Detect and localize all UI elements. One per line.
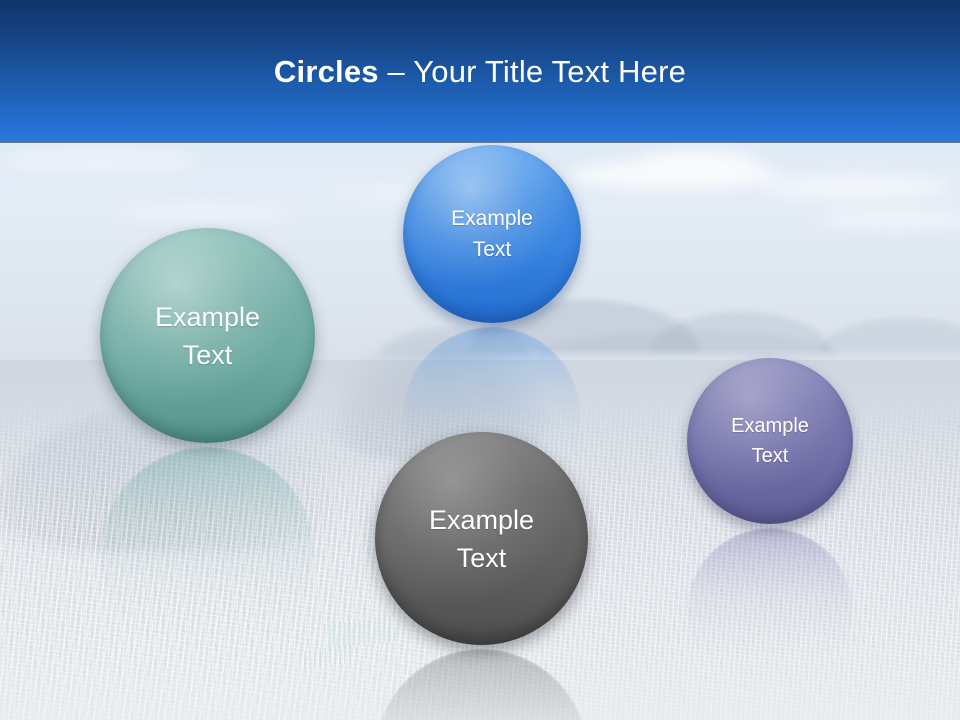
circle-shape-teal[interactable]: ExampleText [100,228,315,443]
page-title-strong: Circles [274,54,379,89]
slide-canvas: ExampleText ExampleText ExampleText Exam… [0,0,960,720]
circle-label-teal: ExampleText [145,298,270,374]
page-title: Circles – Your Title Text Here [0,52,960,92]
circle-shape-blue[interactable]: ExampleText [403,145,581,323]
circle-label-blue: ExampleText [441,203,543,265]
page-title-rest: – Your Title Text Here [379,54,686,89]
title-bar: Circles – Your Title Text Here [0,0,960,142]
circle-label-gray: ExampleText [419,501,544,577]
circle-label-purple: ExampleText [721,411,819,471]
circle-shape-purple[interactable]: ExampleText [687,358,853,524]
circle-shape-gray[interactable]: ExampleText [375,432,588,645]
